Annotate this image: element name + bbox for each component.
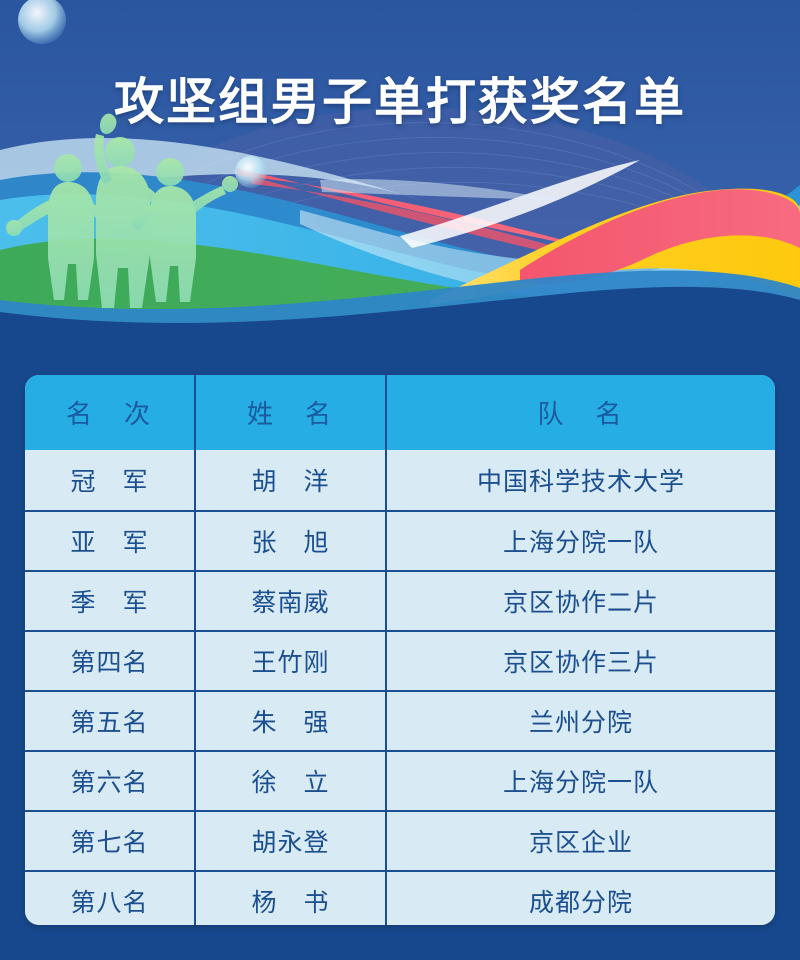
column-header-rank: 名 次 [25, 375, 194, 450]
cell-team: 上海分院一队 [385, 752, 775, 810]
award-list-poster: 攻坚组男子单打获奖名单 名 次 姓 名 队 名 冠 军 胡 洋 中国科学技术大学… [0, 0, 800, 960]
table-row: 亚 军 张 旭 上海分院一队 [25, 510, 775, 570]
cell-team: 中国科学技术大学 [385, 450, 775, 510]
column-header-name: 姓 名 [194, 375, 385, 450]
cell-team: 京区协作二片 [385, 572, 775, 630]
cell-rank: 第七名 [25, 812, 194, 870]
table-header-row: 名 次 姓 名 队 名 [25, 375, 775, 450]
cell-name: 胡永登 [194, 812, 385, 870]
award-table: 名 次 姓 名 队 名 冠 军 胡 洋 中国科学技术大学 亚 军 张 旭 上海分… [25, 375, 775, 925]
cell-rank: 第八名 [25, 872, 194, 925]
table-row: 第八名 杨 书 成都分院 [25, 870, 775, 925]
cell-name: 胡 洋 [194, 450, 385, 510]
banner-header: 攻坚组男子单打获奖名单 [0, 0, 800, 330]
cell-rank: 亚 军 [25, 512, 194, 570]
cell-team: 兰州分院 [385, 692, 775, 750]
table-row: 第五名 朱 强 兰州分院 [25, 690, 775, 750]
cell-rank: 冠 军 [25, 450, 194, 510]
bubble-decor-2 [235, 156, 267, 188]
cell-rank: 第六名 [25, 752, 194, 810]
table-row: 季 军 蔡南威 京区协作二片 [25, 570, 775, 630]
cell-name: 杨 书 [194, 872, 385, 925]
column-header-team: 队 名 [385, 375, 775, 450]
banner-artwork [0, 0, 800, 330]
cell-rank: 第五名 [25, 692, 194, 750]
cell-name: 蔡南威 [194, 572, 385, 630]
cell-name: 徐 立 [194, 752, 385, 810]
page-title: 攻坚组男子单打获奖名单 [0, 62, 800, 134]
cell-team: 京区协作三片 [385, 632, 775, 690]
table-row: 第七名 胡永登 京区企业 [25, 810, 775, 870]
table-row: 冠 军 胡 洋 中国科学技术大学 [25, 450, 775, 510]
table-row: 第六名 徐 立 上海分院一队 [25, 750, 775, 810]
cell-rank: 第四名 [25, 632, 194, 690]
cell-name: 朱 强 [194, 692, 385, 750]
cell-team: 京区企业 [385, 812, 775, 870]
cell-team: 上海分院一队 [385, 512, 775, 570]
cell-name: 王竹刚 [194, 632, 385, 690]
cell-team: 成都分院 [385, 872, 775, 925]
table-row: 第四名 王竹刚 京区协作三片 [25, 630, 775, 690]
cell-name: 张 旭 [194, 512, 385, 570]
cell-rank: 季 军 [25, 572, 194, 630]
